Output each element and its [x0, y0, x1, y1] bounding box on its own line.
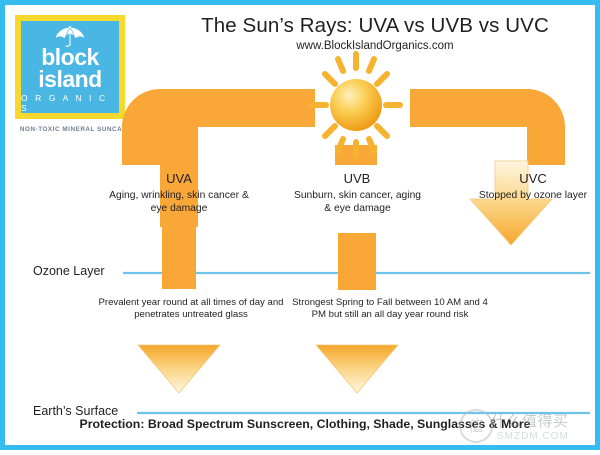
column-label-uva: UVA	[119, 171, 239, 186]
column-desc-uva: Aging, wrinkling, skin cancer & eye dama…	[109, 189, 249, 215]
uvb-arrow-to-surface	[316, 345, 398, 393]
uva-pipe-elbow-shape	[160, 89, 315, 165]
infographic-body: block island O R G A N I C S NON-TOXIC M…	[5, 5, 595, 445]
sun-icon	[312, 54, 400, 156]
uva-bar-through-ozone	[162, 227, 196, 289]
uva-arrow-to-surface	[138, 345, 220, 393]
column-label-uvc: UVC	[473, 171, 593, 186]
layer-label-earth: Earth’s Surface	[33, 404, 118, 418]
column-desc-uvc: Stopped by ozone layer	[463, 189, 600, 202]
protection-statement: Protection: Broad Spectrum Sunscreen, Cl…	[5, 417, 600, 431]
column-desc-uvb: Sunburn, skin cancer, aging & eye damage	[290, 189, 425, 215]
note-uvb: Strongest Spring to Fall between 10 AM a…	[288, 297, 492, 322]
uvc-pipe-elbow	[410, 89, 565, 165]
note-uva: Prevalent year round at all times of day…	[93, 297, 289, 322]
layer-label-ozone: Ozone Layer	[33, 264, 105, 278]
ray-diagram	[5, 5, 600, 455]
uvb-bar	[338, 233, 376, 290]
column-label-uvb: UVB	[297, 171, 417, 186]
infographic-canvas: block island O R G A N I C S NON-TOXIC M…	[0, 0, 600, 450]
